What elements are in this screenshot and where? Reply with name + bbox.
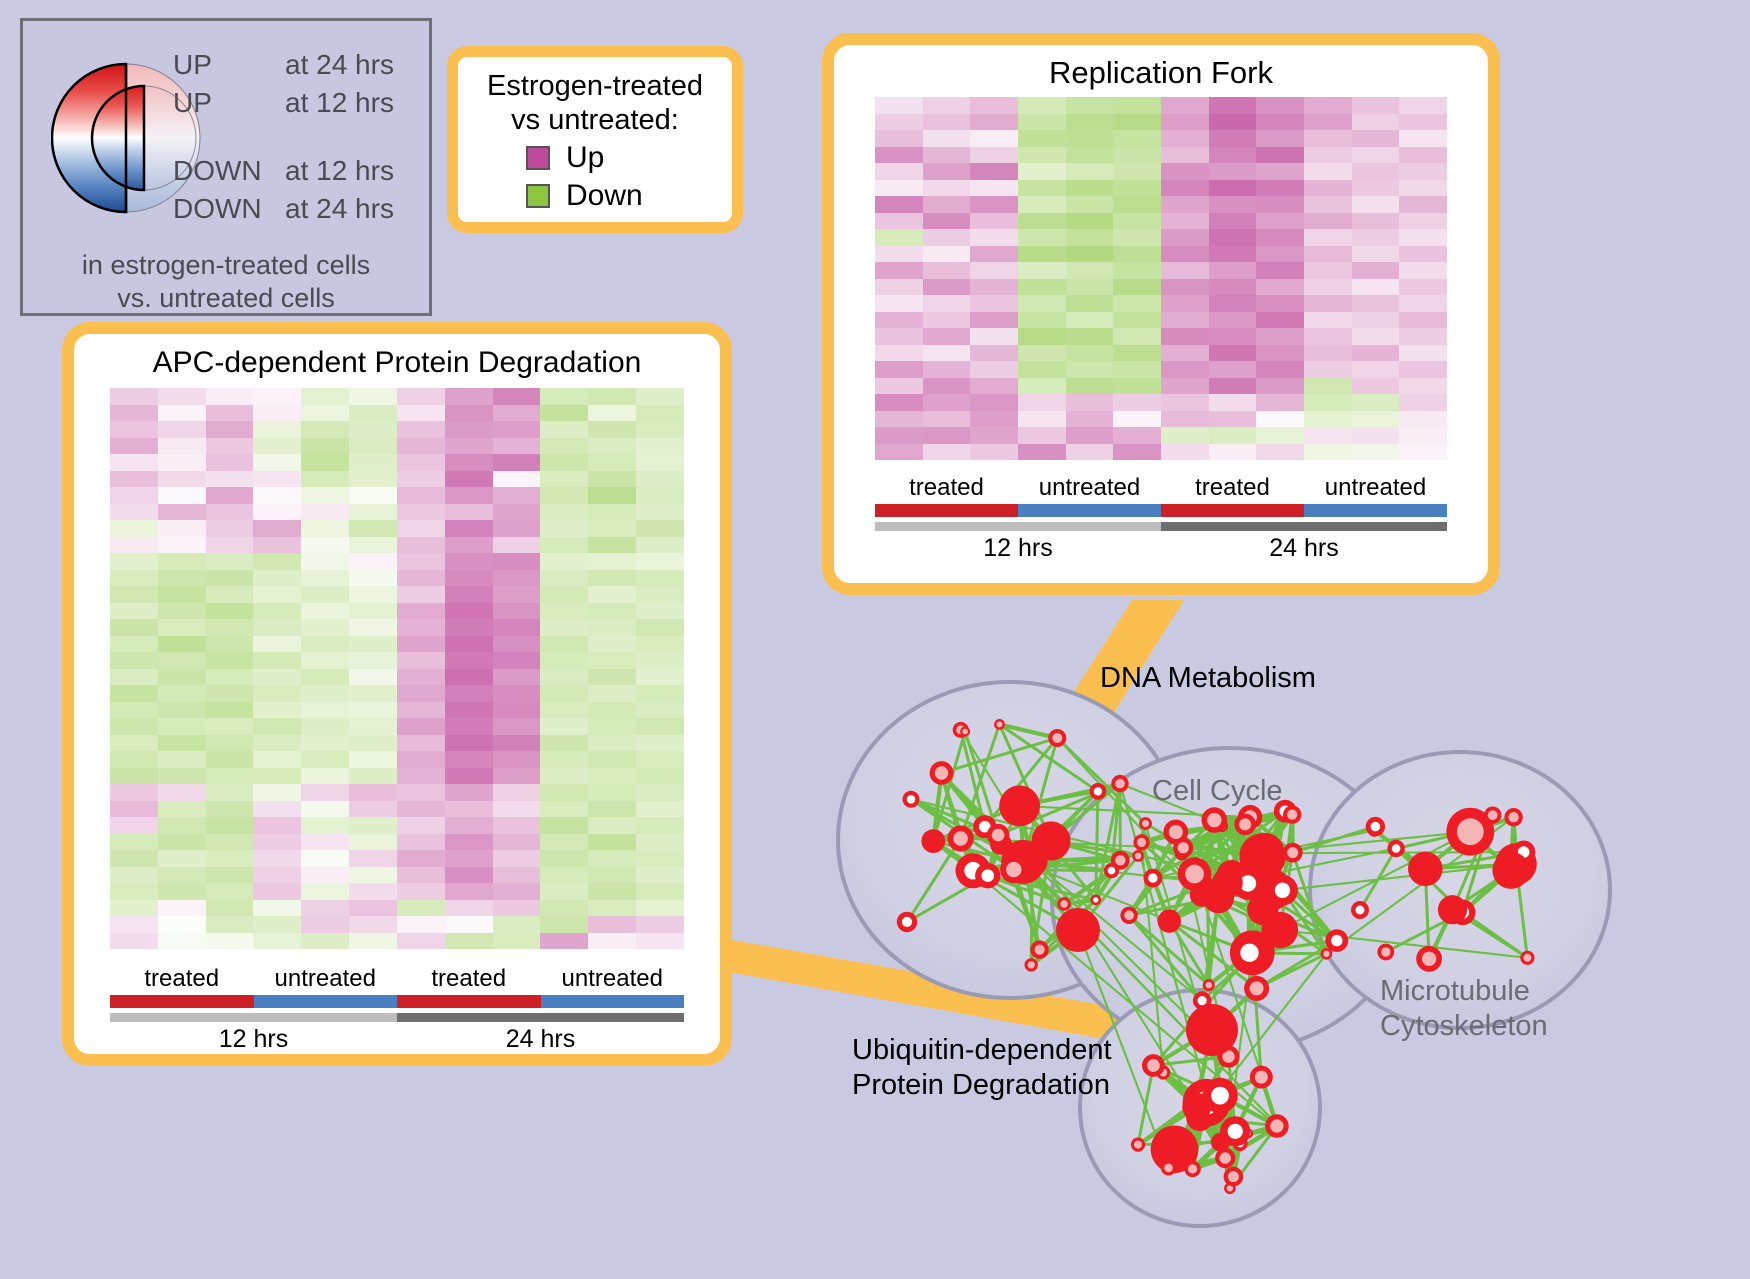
heatmap-cell <box>1256 213 1304 230</box>
heatmap-cell <box>301 784 349 801</box>
heatmap-cell <box>588 834 636 851</box>
network-node[interactable] <box>994 719 1005 730</box>
heatmap-cell <box>301 520 349 537</box>
network-node[interactable] <box>960 727 970 737</box>
network-node[interactable] <box>1158 909 1181 932</box>
heatmap-cell <box>301 619 349 636</box>
heatmap-cell <box>253 801 301 818</box>
colorbar-direction: UP <box>173 87 285 119</box>
heatmap-cell <box>206 718 254 735</box>
heatmap-cell <box>636 636 684 653</box>
heatmap-cell <box>253 553 301 570</box>
heatmap-cell <box>1352 345 1400 362</box>
heatmap-cell <box>540 388 588 405</box>
heatmap-cell <box>206 685 254 702</box>
heatmap-cell <box>588 685 636 702</box>
heatmap-cell <box>445 438 493 455</box>
heatmap-cell <box>540 883 588 900</box>
heatmap-cell <box>636 850 684 867</box>
heatmap-cell <box>158 553 206 570</box>
network-node[interactable] <box>1484 807 1501 824</box>
network-node[interactable] <box>1366 817 1385 836</box>
network-node[interactable] <box>1144 869 1163 888</box>
heatmap-cell <box>636 867 684 884</box>
heatmap-cell <box>301 652 349 669</box>
heatmap-cell <box>1304 312 1352 329</box>
heatmap-cell <box>923 411 971 428</box>
heatmap-cell <box>493 603 541 620</box>
cluster-label-microtubule-cytoskeleton: Microtubule Cytoskeleton <box>1380 974 1548 1045</box>
network-node[interactable] <box>1120 907 1137 924</box>
heatmap-cell <box>1018 427 1066 444</box>
heatmap-cell <box>875 114 923 131</box>
heatmap-cell <box>349 916 397 933</box>
axis-time-segment <box>397 1013 684 1022</box>
heatmap-cell <box>206 867 254 884</box>
heatmap-cell <box>110 471 158 488</box>
heatmap-cell <box>110 553 158 570</box>
heatmap-cell <box>1066 147 1114 164</box>
heatmap-cell <box>349 817 397 834</box>
heatmap-cell <box>1209 147 1257 164</box>
heatmap-cell <box>349 537 397 554</box>
heatmap-cell <box>206 603 254 620</box>
network-node[interactable] <box>1090 783 1107 800</box>
network-node[interactable] <box>948 825 974 851</box>
heatmap-cell <box>158 636 206 653</box>
heatmap-cell <box>397 900 445 917</box>
network-node[interactable] <box>921 829 945 853</box>
network-node[interactable] <box>1234 814 1256 836</box>
axis-treatment-segment <box>1018 504 1161 517</box>
heatmap-cell <box>1209 130 1257 147</box>
colorbar-time: at 24 hrs <box>285 49 394 81</box>
network-node[interactable] <box>1283 843 1303 863</box>
heatmap-cell <box>1018 345 1066 362</box>
heatmap-cell <box>397 850 445 867</box>
heatmap-cell <box>397 586 445 603</box>
heatmap-cell <box>1352 328 1400 345</box>
heatmap-cell <box>1304 213 1352 230</box>
network-node[interactable] <box>1438 895 1467 924</box>
heatmap-cell <box>1209 229 1257 246</box>
heatmap-cell <box>206 553 254 570</box>
heatmap-cell <box>1304 378 1352 395</box>
heatmap-cell <box>110 933 158 950</box>
colorbar-time: at 12 hrs <box>285 155 394 187</box>
network-node[interactable] <box>1132 850 1144 862</box>
heatmap-cell <box>445 702 493 719</box>
heatmap-cell <box>1352 411 1400 428</box>
heatmap-cell <box>970 180 1018 197</box>
axis-time-segment <box>110 1013 397 1022</box>
heatmap-cell <box>875 97 923 114</box>
heatmap-cell <box>158 504 206 521</box>
heatmap-cell <box>349 487 397 504</box>
heatmap-cell <box>1399 246 1447 263</box>
heatmap-cell <box>493 553 541 570</box>
heatmap-cell <box>540 867 588 884</box>
heatmap-cell <box>397 702 445 719</box>
heatmap-cell <box>636 652 684 669</box>
colorbar-direction: UP <box>173 49 285 81</box>
heatmap-cell <box>1304 262 1352 279</box>
network-node[interactable] <box>1030 940 1048 958</box>
network-node[interactable] <box>1178 857 1212 891</box>
heatmap-cell <box>923 361 971 378</box>
heatmap-cell <box>540 636 588 653</box>
network-node[interactable] <box>1220 1116 1250 1146</box>
heatmap-cell <box>158 537 206 554</box>
heatmap-cell <box>1113 345 1161 362</box>
network-node[interactable] <box>1231 934 1268 971</box>
heatmap-cell <box>253 570 301 587</box>
axis-group-label: untreated <box>254 965 398 993</box>
heatmap-cell <box>206 883 254 900</box>
heatmap-cell <box>1113 147 1161 164</box>
heatmap-cell <box>1352 246 1400 263</box>
heatmap-cell <box>1113 213 1161 230</box>
heatmap-cell <box>1209 328 1257 345</box>
axis-group-label: untreated <box>1304 474 1447 502</box>
heatmap-cell <box>253 834 301 851</box>
heatmap-cell <box>970 378 1018 395</box>
heatmap-cell <box>636 685 684 702</box>
network-node[interactable] <box>1184 1161 1200 1177</box>
heatmap-cell <box>445 933 493 950</box>
heatmap-cell <box>110 537 158 554</box>
heatmap-cell <box>1352 262 1400 279</box>
heatmap-cell <box>540 916 588 933</box>
heatmap-cell <box>875 147 923 164</box>
heatmap-cell <box>397 669 445 686</box>
heatmap-cell <box>158 817 206 834</box>
heatmap-cell <box>253 636 301 653</box>
heatmap-cell <box>588 784 636 801</box>
heatmap-cell <box>110 586 158 603</box>
heatmap-cell <box>158 768 206 785</box>
heatmap-cell <box>540 520 588 537</box>
heatmap-cell <box>301 735 349 752</box>
heatmap-cell <box>349 718 397 735</box>
heatmap-cell <box>923 130 971 147</box>
axis-treatment-segment <box>1161 504 1304 517</box>
network-node[interactable] <box>1104 863 1119 878</box>
heatmap-cell <box>301 553 349 570</box>
heatmap-cell <box>636 900 684 917</box>
network-node[interactable] <box>1244 976 1269 1001</box>
heatmap-cell <box>1113 328 1161 345</box>
network-node[interactable] <box>1142 1054 1165 1077</box>
network-node[interactable] <box>897 912 917 932</box>
axis-time-labels: 12 hrs 24 hrs <box>110 1025 684 1054</box>
heatmap-cell <box>158 520 206 537</box>
network-node[interactable] <box>1048 729 1066 747</box>
heatmap-cell <box>206 916 254 933</box>
panel-apc-degradation: APC-dependent Protein Degradation treate… <box>62 322 732 1066</box>
axis-time-label: 12 hrs <box>875 534 1161 563</box>
heatmap-cell <box>875 411 923 428</box>
heatmap-cell <box>1256 163 1304 180</box>
heatmap-cell <box>253 933 301 950</box>
network-node[interactable] <box>1139 817 1152 830</box>
heatmap-cell <box>1018 444 1066 461</box>
network-node[interactable] <box>1416 946 1442 972</box>
axis-treatment-segment <box>397 995 541 1008</box>
heatmap-cell <box>1399 97 1447 114</box>
heatmap-cell <box>1256 97 1304 114</box>
heatmap-cell <box>349 784 397 801</box>
heatmap-cell <box>1018 361 1066 378</box>
network-node[interactable] <box>1492 852 1529 889</box>
heatmap-cell <box>1018 246 1066 263</box>
network-node[interactable] <box>1283 805 1301 823</box>
heatmap-cell <box>110 735 158 752</box>
heatmap-cell <box>206 669 254 686</box>
heatmap-cell <box>1304 411 1352 428</box>
heatmap-cell <box>1256 196 1304 213</box>
axis-treatment-segment <box>110 995 254 1008</box>
heatmap-cell <box>1399 163 1447 180</box>
heatmap-cell <box>1161 312 1209 329</box>
heatmap-cell <box>206 751 254 768</box>
heatmap-cell <box>636 570 684 587</box>
network-node[interactable] <box>975 863 1000 888</box>
network-node[interactable] <box>1091 895 1102 906</box>
heatmap-cell <box>110 570 158 587</box>
heatmap-cell <box>1256 312 1304 329</box>
network-node[interactable] <box>1173 838 1193 858</box>
heatmap-cell <box>253 751 301 768</box>
axis-group-label: treated <box>110 965 254 993</box>
colorbar-row: DOWN at 12 hrs <box>173 155 423 193</box>
heatmap-cell <box>540 735 588 752</box>
heatmap-cell <box>1018 312 1066 329</box>
network-node[interactable] <box>1057 897 1071 911</box>
network-node[interactable] <box>903 791 920 808</box>
heatmap-cell <box>158 438 206 455</box>
heatmap-cell <box>253 685 301 702</box>
heatmap-cell <box>636 438 684 455</box>
network-node[interactable] <box>1203 979 1215 991</box>
panel-title-replication-fork: Replication Fork <box>834 55 1488 91</box>
heatmap-cell <box>875 229 923 246</box>
heatmap-cell <box>1256 147 1304 164</box>
axis-time-segment <box>875 522 1161 531</box>
heatmap-cell <box>588 388 636 405</box>
heatmap-cell <box>397 421 445 438</box>
heatmap-cell <box>1018 328 1066 345</box>
heatmap-cell <box>1066 328 1114 345</box>
network-node[interactable] <box>1131 1138 1145 1152</box>
heatmap-cell <box>253 702 301 719</box>
heatmap-cell <box>206 817 254 834</box>
heatmap-cell <box>875 295 923 312</box>
axis-group-label: treated <box>875 474 1018 502</box>
heatmap-cell <box>445 883 493 900</box>
heatmap-cell <box>1066 180 1114 197</box>
heatmap-cell <box>1352 427 1400 444</box>
heatmap-cell <box>253 916 301 933</box>
network-node[interactable] <box>1025 958 1038 971</box>
heatmap-cell <box>588 867 636 884</box>
network-node[interactable] <box>1504 808 1522 826</box>
heatmap-cell <box>253 619 301 636</box>
heatmap-cell <box>970 130 1018 147</box>
network-node[interactable] <box>1250 1066 1273 1089</box>
heatmap-cell <box>1018 394 1066 411</box>
network-node[interactable] <box>1182 1093 1211 1122</box>
heatmap-cell <box>206 586 254 603</box>
heatmap-cell <box>349 751 397 768</box>
heatmap-cell <box>301 586 349 603</box>
heatmap-cell <box>110 520 158 537</box>
network-node[interactable] <box>930 761 954 785</box>
heatmap-cell <box>540 471 588 488</box>
heatmap-cell <box>397 735 445 752</box>
heatmap-cell <box>349 520 397 537</box>
axis-group-label: untreated <box>1018 474 1161 502</box>
heatmap-cell <box>970 361 1018 378</box>
network-node[interactable] <box>1161 1160 1176 1175</box>
heatmap-cell <box>206 619 254 636</box>
heatmap-cell <box>493 801 541 818</box>
heatmap-cell <box>540 487 588 504</box>
heatmap-cell <box>349 438 397 455</box>
network-node[interactable] <box>1387 840 1404 857</box>
network-node[interactable] <box>1246 833 1285 872</box>
network-node[interactable] <box>1520 951 1534 965</box>
heatmap-cell <box>1304 147 1352 164</box>
heatmap-cell <box>1066 394 1114 411</box>
network-node[interactable] <box>1265 1114 1289 1138</box>
heatmap-cell <box>1399 295 1447 312</box>
heatmap-cell <box>588 454 636 471</box>
heatmap-cell <box>110 636 158 653</box>
heatmap-cell <box>636 801 684 818</box>
heatmap-cell <box>445 867 493 884</box>
heatmap-cell <box>493 421 541 438</box>
heatmap-cell <box>1304 328 1352 345</box>
heatmap-cell <box>1352 213 1400 230</box>
heatmap-cell <box>158 487 206 504</box>
heatmap-cell <box>1113 361 1161 378</box>
heatmap-cell <box>206 421 254 438</box>
axis-treatment-bar <box>875 504 1447 517</box>
heatmap-cell <box>540 570 588 587</box>
heatmap-cell <box>1304 229 1352 246</box>
heatmap-cell <box>301 471 349 488</box>
network-node[interactable] <box>1111 775 1128 792</box>
network-node[interactable] <box>1000 856 1027 883</box>
heatmap-cell <box>923 378 971 395</box>
heatmap-cell <box>540 801 588 818</box>
heatmap-cell <box>158 388 206 405</box>
heatmap-cell <box>1209 427 1257 444</box>
heatmap-cell <box>588 504 636 521</box>
heatmap-cell <box>1018 163 1066 180</box>
heatmap-cell <box>636 603 684 620</box>
key-item-down: Down <box>458 179 732 213</box>
heatmap-cell <box>875 262 923 279</box>
heatmap-cell <box>636 471 684 488</box>
heatmap-cell <box>1161 196 1209 213</box>
heatmap-cell <box>301 405 349 422</box>
heatmap-cell <box>1066 246 1114 263</box>
heatmap-cell <box>349 388 397 405</box>
heatmap-cell <box>1399 130 1447 147</box>
heatmap-cell <box>206 768 254 785</box>
heatmap-cell <box>588 619 636 636</box>
heatmap-cell <box>158 619 206 636</box>
heatmap-cell <box>301 702 349 719</box>
heatmap-cell <box>540 438 588 455</box>
network-node[interactable] <box>1133 834 1149 850</box>
network-node[interactable] <box>1408 852 1443 887</box>
heatmap-cell <box>206 520 254 537</box>
heatmap-cell <box>110 438 158 455</box>
heatmap-cell <box>349 454 397 471</box>
heatmap-cell <box>1256 262 1304 279</box>
heatmap-cell <box>1399 378 1447 395</box>
network-node[interactable] <box>1377 944 1394 961</box>
heatmap-cell <box>110 751 158 768</box>
heatmap-cell <box>1209 411 1257 428</box>
network-node[interactable] <box>1212 868 1243 899</box>
heatmap-cell <box>970 97 1018 114</box>
heatmap-cell <box>349 702 397 719</box>
network-node[interactable] <box>1224 1167 1244 1187</box>
network-node[interactable] <box>987 824 1010 847</box>
heatmap-cell <box>349 619 397 636</box>
heatmap-cell <box>1018 279 1066 296</box>
heatmap-cell <box>1161 213 1209 230</box>
heatmap-cell <box>253 520 301 537</box>
heatmap-cell <box>493 916 541 933</box>
heatmap-cell <box>1399 312 1447 329</box>
heatmap-cell <box>110 916 158 933</box>
network-node[interactable] <box>1325 929 1348 952</box>
heatmap-cell <box>1399 114 1447 131</box>
heatmap-cell <box>923 147 971 164</box>
heatmap-cell <box>158 751 206 768</box>
heatmap-cell <box>1352 114 1400 131</box>
heatmap-cell <box>110 405 158 422</box>
network-node[interactable] <box>1247 894 1278 925</box>
network-node[interactable] <box>999 786 1040 827</box>
heatmap-cell <box>1352 97 1400 114</box>
heatmap-cell <box>253 438 301 455</box>
heatmap-cell <box>349 883 397 900</box>
network-node[interactable] <box>1056 908 1100 952</box>
heatmap-cell <box>1209 345 1257 362</box>
heatmap-cell <box>636 933 684 950</box>
heatmap-cell <box>875 444 923 461</box>
up-swatch-icon <box>526 146 550 170</box>
colorbar-direction: DOWN <box>173 193 285 225</box>
network-node[interactable] <box>1202 807 1228 833</box>
heatmap-cell <box>349 867 397 884</box>
heatmap-cell <box>1352 394 1400 411</box>
heatmap-cell <box>970 295 1018 312</box>
network-node[interactable] <box>1351 901 1369 919</box>
heatmap-cell <box>253 768 301 785</box>
heatmap-cell <box>1018 180 1066 197</box>
heatmap-cell <box>158 570 206 587</box>
heatmap-cell <box>301 801 349 818</box>
heatmap-cell <box>206 652 254 669</box>
network-node[interactable] <box>1186 1004 1238 1056</box>
